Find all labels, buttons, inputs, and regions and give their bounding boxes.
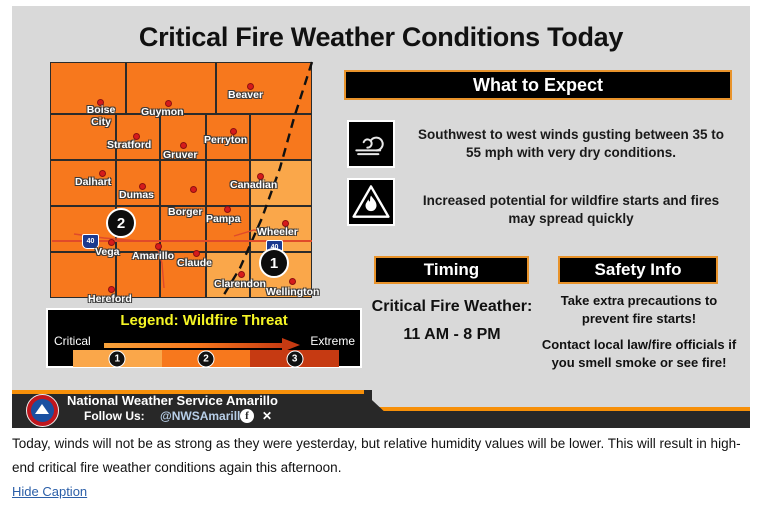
legend-swatch-2: 2 [162, 350, 251, 367]
city-dot [193, 250, 200, 257]
city-dot [289, 278, 296, 285]
footer-updated-bar: Updated: Tue Feb 17, 2026 11:43 PM [372, 411, 750, 428]
city-dot [108, 286, 115, 293]
fire-warning-icon [347, 178, 395, 226]
map-canvas: 40 40 BoiseCity Guymon Beaver Stratford … [44, 58, 326, 305]
what-to-expect-header: What to Expect [344, 70, 732, 100]
city-label-wheeler: Wheeler [257, 226, 298, 238]
timing-header: Timing [374, 256, 529, 284]
city-label-amarillo: Amarillo [132, 250, 174, 262]
nws-seal-logo [26, 394, 59, 427]
caption-text: Today, winds will not be as strong as th… [12, 432, 752, 479]
timing-value: 11 AM - 8 PM [364, 324, 540, 346]
threat-marker-1[interactable]: 1 [259, 248, 289, 278]
city-dot [108, 239, 115, 246]
weather-graphic: Critical Fire Weather Conditions Today [12, 6, 750, 428]
city-label-clarendon: Clarendon [214, 278, 266, 290]
legend-swatch-3: 3 [250, 350, 339, 367]
page-title: Critical Fire Weather Conditions Today [12, 22, 750, 53]
legend-swatch-number: 1 [109, 350, 126, 367]
legend-high-label: Extreme [310, 334, 355, 348]
legend-swatches: 1 2 3 [73, 350, 339, 367]
city-label-gruver: Gruver [163, 149, 197, 161]
city-label-stratford: Stratford [107, 139, 151, 151]
hide-caption-link[interactable]: Hide Caption [12, 484, 87, 499]
follow-us-label: Follow Us: [84, 409, 145, 423]
legend-swatch-1: 1 [73, 350, 162, 367]
safety-body: Take extra precautions to prevent fire s… [540, 292, 738, 380]
city-label-perryton: Perryton [204, 134, 247, 146]
city-label-dalhart: Dalhart [75, 176, 111, 188]
city-label-canadian: Canadian [230, 179, 277, 191]
social-handle[interactable]: @NWSAmarillo [160, 409, 248, 423]
threat-marker-2[interactable]: 2 [106, 208, 136, 238]
legend-swatch-number: 3 [286, 350, 303, 367]
safety-line-2: Contact local law/fire officials if you … [540, 336, 738, 371]
city-label-beaver: Beaver [228, 89, 263, 101]
legend: Legend: Wildfire Threat Critical Extreme… [46, 308, 362, 368]
x-twitter-icon[interactable]: ✕ [260, 409, 274, 423]
footer-branding-bar: National Weather Service Amarillo Follow… [12, 390, 372, 428]
what-to-expect-text-wind: Southwest to west winds gusting between … [410, 126, 732, 162]
legend-gradient-arrow-icon [104, 338, 304, 347]
office-name: National Weather Service Amarillo [67, 393, 278, 408]
city-label-vega: Vega [95, 246, 120, 258]
safety-header: Safety Info [558, 256, 718, 284]
legend-low-label: Critical [54, 334, 91, 348]
city-label-wellington: Wellington [266, 286, 319, 298]
what-to-expect-text-fire: Increased potential for wildfire starts … [410, 192, 732, 228]
city-label-dumas: Dumas [119, 189, 154, 201]
threat-map[interactable]: 40 40 BoiseCity Guymon Beaver Stratford … [44, 58, 326, 305]
city-label-borger: Borger [168, 206, 202, 218]
timing-label: Critical Fire Weather: [364, 296, 540, 318]
footer-bar: Updated: Tue Feb 17, 2026 11:43 PM Natio… [12, 390, 750, 428]
city-label-boise-city: BoiseCity [76, 104, 126, 128]
city-dot [155, 243, 162, 250]
city-label-hereford: Hereford [88, 293, 132, 305]
city-label-pampa: Pampa [206, 213, 240, 225]
city-dot [190, 186, 197, 193]
city-label-claude: Claude [177, 257, 212, 269]
safety-line-1: Take extra precautions to prevent fire s… [540, 292, 738, 327]
city-dot [238, 271, 245, 278]
city-dot [180, 142, 187, 149]
timing-body: Critical Fire Weather: 11 AM - 8 PM [364, 296, 540, 345]
legend-title: Legend: Wildfire Threat [48, 312, 360, 329]
facebook-icon[interactable]: f [240, 409, 254, 423]
city-dot [224, 206, 231, 213]
wind-icon [347, 120, 395, 168]
legend-swatch-number: 2 [198, 350, 215, 367]
city-label-guymon: Guymon [141, 106, 184, 118]
